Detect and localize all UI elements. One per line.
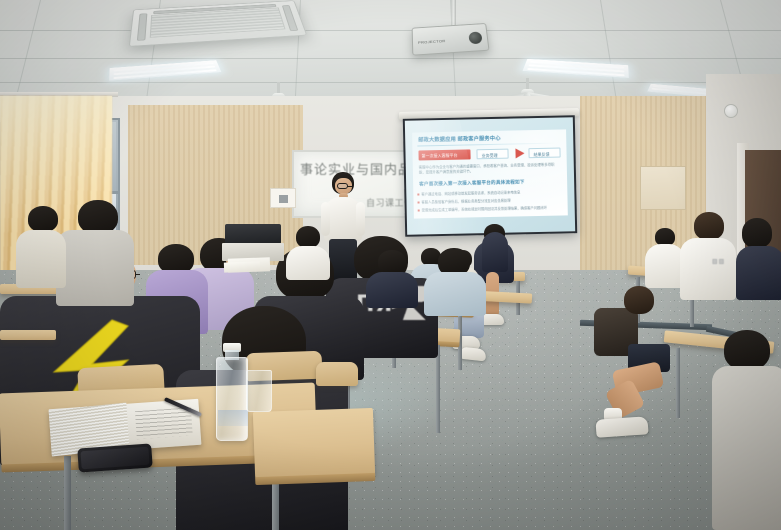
student-right-white-2: ▨▨ xyxy=(680,212,736,304)
projector: PROJECTOR xyxy=(412,23,490,56)
smoke-detector-icon xyxy=(724,104,738,118)
student-right-front-grey xyxy=(712,330,781,530)
student-right-white-1 xyxy=(645,228,685,288)
student-shirt xyxy=(645,244,685,288)
office-printer xyxy=(225,224,281,244)
paper-stack xyxy=(224,261,260,272)
slide-subheading: 客户首次接入第一次接入客服平台的具体流程如下 xyxy=(419,179,525,187)
student-head xyxy=(694,212,724,240)
student-right-seated-skirt xyxy=(594,300,680,440)
student-top xyxy=(736,246,781,300)
student-top xyxy=(366,272,418,308)
student-head xyxy=(78,200,118,234)
shirt-print: ▨▨ xyxy=(712,258,725,265)
student-head xyxy=(624,286,654,314)
slide-tag-highlighted: 第一次接入客服平台 xyxy=(418,149,470,160)
slide-divider xyxy=(417,143,556,147)
slide-title: 邮政大数据应用 邮政客户服务中心 xyxy=(418,135,501,144)
slide-bullet: 客户通过电话、网站或移动端发起服务请求，系统自动记录来电信息 xyxy=(421,190,559,197)
projector-lens xyxy=(468,31,482,44)
student-lightblue-hoodie xyxy=(424,248,486,314)
slide-paragraph: 客服中心作为企业与客户沟通的重要窗口，承担着客户咨询、业务受理、投诉处理等多项职… xyxy=(419,163,559,175)
projector-mount-pole xyxy=(451,0,456,26)
student-white-tee-mid xyxy=(286,226,330,278)
chair-back-right xyxy=(316,362,358,386)
bottle-label xyxy=(218,410,248,426)
glasses-icon xyxy=(337,183,348,189)
drinking-glass xyxy=(246,370,272,412)
student-hoodie xyxy=(424,272,486,316)
student-top xyxy=(16,230,66,288)
bottle-body xyxy=(216,357,248,441)
student-far-left-back xyxy=(16,206,66,286)
student-top xyxy=(712,366,781,530)
student-shirt xyxy=(56,230,134,306)
desk-left-mid xyxy=(0,330,56,340)
smartphone xyxy=(77,443,152,472)
student-head xyxy=(378,250,406,274)
book-printed-text xyxy=(135,407,193,439)
wall-notice-sign xyxy=(270,188,296,208)
slide-tag-2-label: 结果反馈 xyxy=(533,151,549,157)
presenter-arm-right xyxy=(356,202,365,236)
projection-screen: 邮政大数据应用 邮政客户服务中心 第一次接入客服平台 业务受理 结果反馈 客服中… xyxy=(403,115,577,237)
projector-label: PROJECTOR xyxy=(418,38,446,44)
student-head xyxy=(28,206,58,232)
student-head xyxy=(296,226,320,248)
classroom-photo: PROJECTOR 事论实业与国内品 自习课工作室 xyxy=(0,0,781,530)
student-shirt xyxy=(680,238,736,300)
arrow-right-icon xyxy=(515,148,524,158)
front-desk-right xyxy=(253,408,375,478)
student-right-dark-hair xyxy=(736,218,781,298)
water-bottle xyxy=(216,343,248,441)
slide-bullet: 客服人员核验客户身份后，根据业务类型分流至对应坐席处理 xyxy=(421,198,559,205)
slide-bullet: 受理完成后生成工单编号，系统在规定时限内回访并反馈处理结果，确保客户问题闭环 xyxy=(422,206,560,213)
student-shirt xyxy=(286,246,330,280)
slide-tag-1-label: 业务受理 xyxy=(482,152,498,158)
slide-tag-2: 结果反馈 xyxy=(528,148,560,159)
student-grey-tee-left xyxy=(56,200,134,304)
student-grey-mid xyxy=(366,250,418,306)
slide-tag-highlighted-label: 第一次接入客服平台 xyxy=(422,152,458,159)
student-head xyxy=(742,218,772,248)
slide-tag-1: 业务受理 xyxy=(476,149,508,160)
wall-access-panel xyxy=(640,166,686,210)
presentation-slide: 邮政大数据应用 邮政客户服务中心 第一次接入客服平台 业务受理 结果反馈 客服中… xyxy=(412,129,568,218)
student-head xyxy=(724,330,770,370)
sneaker xyxy=(595,416,648,438)
sneaker xyxy=(459,347,486,362)
